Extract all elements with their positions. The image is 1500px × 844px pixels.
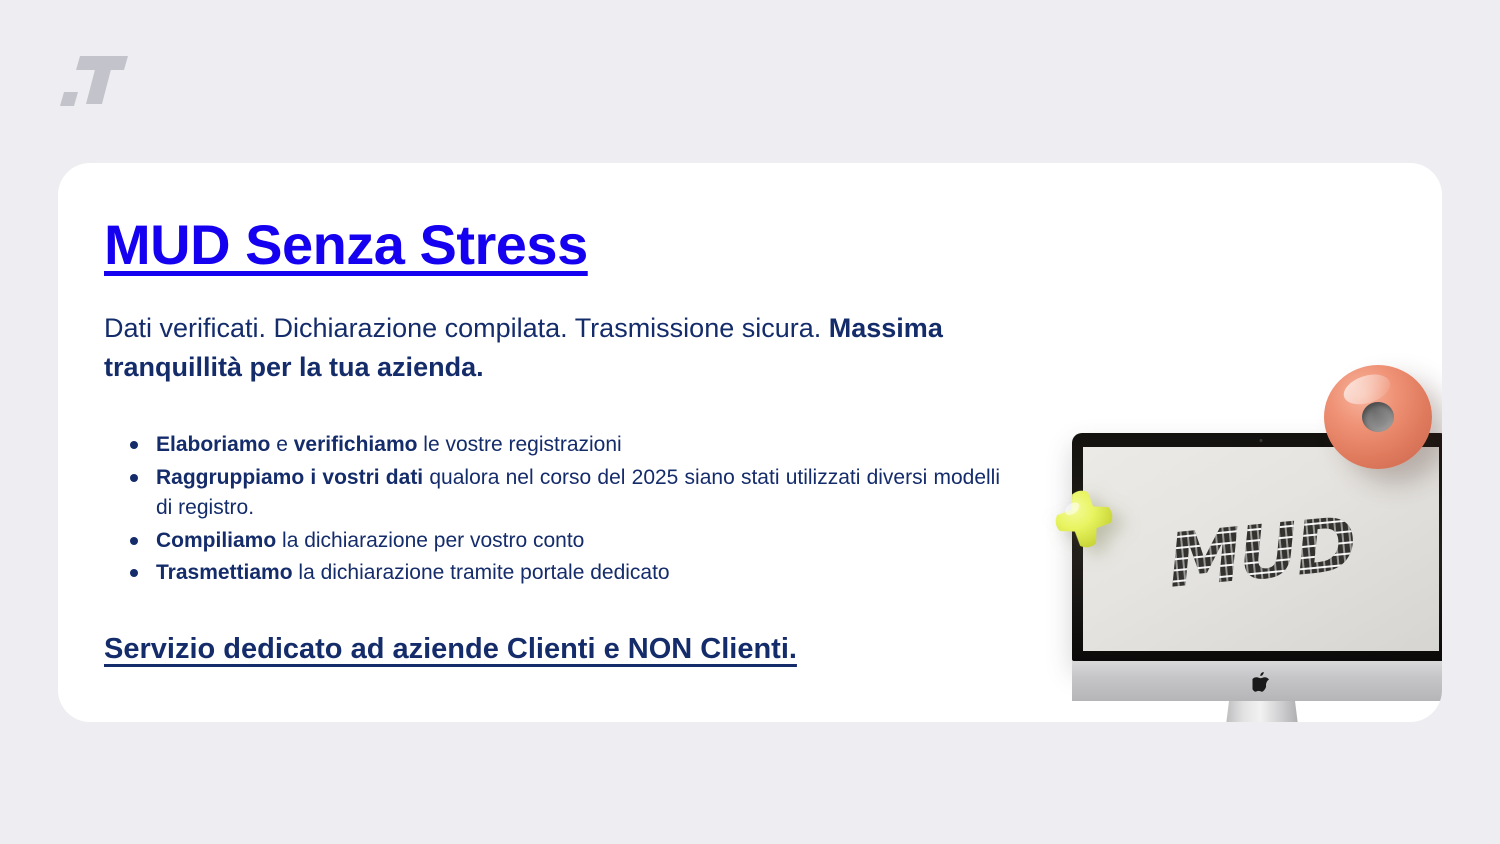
imac-illustration: MUD MUD xyxy=(988,183,1428,703)
donut-gloss xyxy=(1340,370,1394,410)
screen-word-binary: MUD xyxy=(1164,501,1358,604)
list-item-bold-lead: Trasmettiamo xyxy=(156,561,293,584)
list-item: Compiliamo la dichiarazione per vostro c… xyxy=(156,526,1004,556)
copy-column: MUD Senza Stress Dati verificati. Dichia… xyxy=(104,215,1004,666)
list-item: Trasmettiamo la dichiarazione tramite po… xyxy=(156,558,1004,588)
apple-logo-icon xyxy=(1253,672,1270,692)
list-item-mid: e xyxy=(270,433,293,456)
list-item-bold-second: verifichiamo xyxy=(294,433,418,456)
plus-cross-shape xyxy=(1048,484,1121,553)
list-item-bold-lead: Elaboriamo xyxy=(156,433,270,456)
subheadline-regular: Dati verificati. Dichiarazione compilata… xyxy=(104,313,829,343)
list-item: Elaboriamo e verifichiamo le vostre regi… xyxy=(156,430,1004,460)
page-title: MUD Senza Stress xyxy=(104,215,588,275)
webcam-icon xyxy=(1260,439,1263,442)
list-item-rest: le vostre registrazioni xyxy=(417,433,621,456)
monitor-screen: MUD MUD xyxy=(1083,447,1439,651)
donut-torus-shape xyxy=(1324,365,1432,469)
monitor-chin xyxy=(1072,661,1442,701)
list-item-rest: la dichiarazione tramite portale dedicat… xyxy=(293,561,670,584)
list-item-rest: la dichiarazione per vostro conto xyxy=(276,529,584,552)
list-item: Raggruppiamo i vostri dati qualora nel c… xyxy=(156,463,1004,523)
subheadline: Dati verificati. Dichiarazione compilata… xyxy=(104,309,944,386)
jt-logo xyxy=(58,52,136,110)
content-card: MUD Senza Stress Dati verificati. Dichia… xyxy=(58,163,1442,722)
closing-statement: Servizio dedicato ad aziende Clienti e N… xyxy=(104,633,797,666)
list-item-bold-lead: Raggruppiamo i vostri dati xyxy=(156,466,423,489)
service-steps-list: Elaboriamo e verifichiamo le vostre regi… xyxy=(104,430,1004,588)
monitor-stand-neck xyxy=(1223,699,1301,722)
list-item-bold-lead: Compiliamo xyxy=(156,529,276,552)
jt-logo-icon xyxy=(58,52,136,110)
